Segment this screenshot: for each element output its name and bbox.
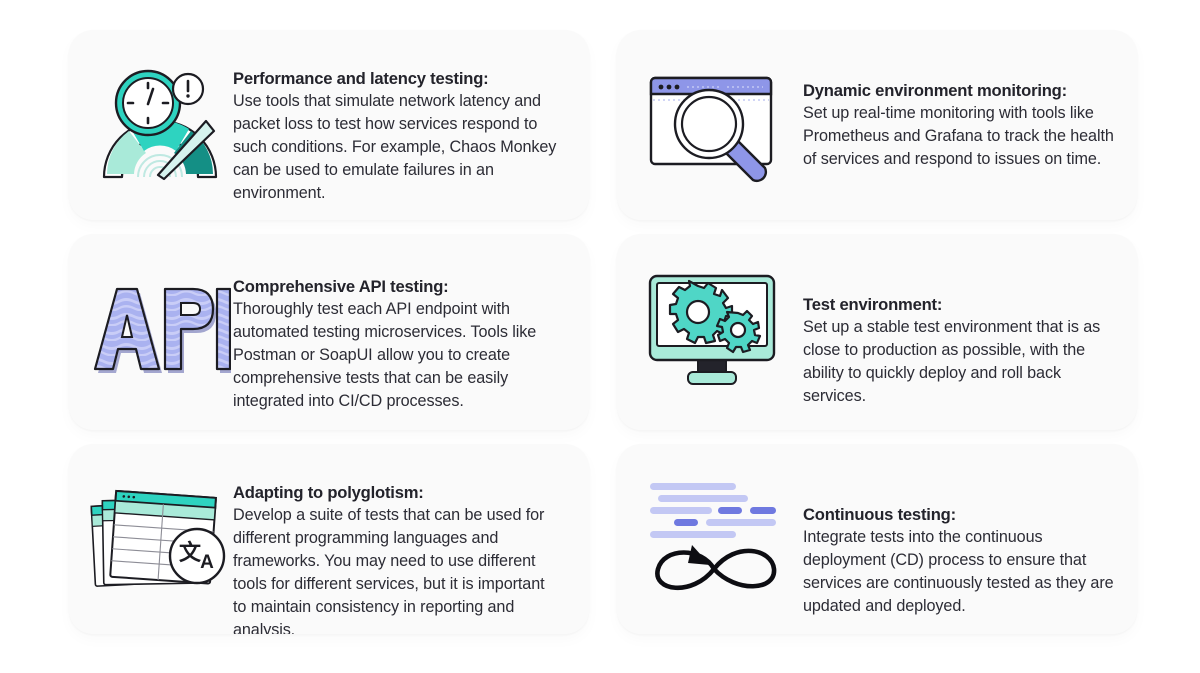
card-title: Adapting to polyglotism:: [233, 482, 559, 503]
card-dynamic-environment-monitoring: Dynamic environment monitoring: Set up r…: [617, 30, 1137, 220]
card-text: Integrate tests into the continuous depl…: [803, 526, 1117, 618]
card-text: Develop a suite of tests that can be use…: [233, 504, 559, 634]
code-infinity-loop-icon: [641, 466, 787, 612]
monitor-gears-icon: [641, 256, 787, 402]
card-title: Performance and latency testing:: [233, 68, 559, 89]
spreadsheets-translate-icon: 文 A: [87, 466, 233, 612]
card-title: Test environment:: [803, 294, 1117, 315]
card-body: Comprehensive API testing: Thoroughly te…: [233, 250, 569, 413]
card-title: Dynamic environment monitoring:: [803, 80, 1117, 101]
cards-board: Performance and latency testing: Use too…: [0, 0, 1200, 673]
card-text: Use tools that simulate network latency …: [233, 90, 559, 205]
card-comprehensive-api-testing: Comprehensive API testing: Thoroughly te…: [69, 234, 589, 430]
card-title: Continuous testing:: [803, 504, 1117, 525]
card-text: Thoroughly test each API endpoint with a…: [233, 298, 559, 413]
card-adapting-to-polyglotism: 文 A Adapting to polyglotism: Develop a s…: [69, 444, 589, 634]
card-title: Comprehensive API testing:: [233, 276, 559, 297]
card-test-environment: Test environment: Set up a stable test e…: [617, 234, 1137, 430]
translate-latin-glyph: A: [200, 552, 214, 573]
card-continuous-testing: Continuous testing: Integrate tests into…: [617, 444, 1137, 634]
card-text: Set up real-time monitoring with tools l…: [803, 102, 1117, 171]
browser-magnifier-icon: [641, 52, 787, 198]
translate-cjk-glyph: 文: [179, 540, 202, 566]
card-body: Continuous testing: Integrate tests into…: [797, 460, 1117, 618]
speedometer-clock-alert-icon: [87, 52, 233, 198]
card-body: Test environment: Set up a stable test e…: [797, 250, 1117, 408]
card-text: Set up a stable test environment that is…: [803, 316, 1117, 408]
card-body: Dynamic environment monitoring: Set up r…: [797, 46, 1117, 171]
api-lettering-icon: [87, 256, 233, 402]
card-performance-latency-testing: Performance and latency testing: Use too…: [69, 30, 589, 220]
card-body: Performance and latency testing: Use too…: [233, 46, 569, 205]
card-body: Adapting to polyglotism: Develop a suite…: [233, 460, 569, 634]
